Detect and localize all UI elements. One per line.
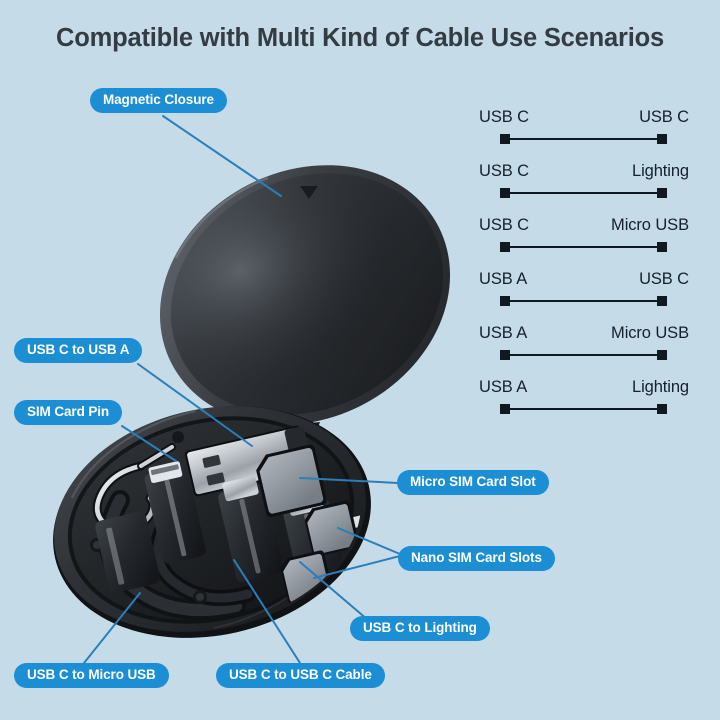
cable-connector-graphic — [500, 133, 667, 145]
cable-line — [505, 408, 662, 410]
cable-connector-graphic — [500, 349, 667, 361]
callout-sim-card-pin[interactable]: SIM Card Pin — [14, 400, 122, 425]
cable-line — [505, 246, 662, 248]
connector-plug-right-icon — [657, 242, 667, 252]
cable-left-label: USB C — [479, 162, 529, 181]
cable-right-label: USB C — [639, 108, 689, 127]
callout-usb-c-to-lighting[interactable]: USB C to Lighting — [350, 616, 490, 641]
connector-plug-right-icon — [657, 134, 667, 144]
cable-left-label: USB C — [479, 216, 529, 235]
cable-spec-row: USB C USB C — [479, 108, 689, 162]
cable-line — [505, 138, 662, 140]
connector-plug-right-icon — [657, 404, 667, 414]
callout-magnetic-closure[interactable]: Magnetic Closure — [90, 88, 227, 113]
cable-spec-row: USB A Lighting — [479, 378, 689, 432]
cable-line — [505, 354, 662, 356]
cable-right-label: Micro USB — [611, 324, 689, 343]
cable-connector-graphic — [500, 241, 667, 253]
cable-right-label: Lighting — [632, 378, 689, 397]
connector-plug-right-icon — [657, 188, 667, 198]
infographic-canvas: Compatible with Multi Kind of Cable Use … — [0, 0, 720, 720]
cable-line — [505, 300, 662, 302]
connector-plug-right-icon — [657, 350, 667, 360]
callout-micro-sim-card-slot[interactable]: Micro SIM Card Slot — [397, 470, 549, 495]
cable-compatibility-list: USB C USB C USB C Lighting USB C — [479, 108, 689, 432]
callout-nano-sim-card-slots[interactable]: Nano SIM Card Slots — [398, 546, 555, 571]
cable-right-label: USB C — [639, 270, 689, 289]
cable-spec-row: USB C Lighting — [479, 162, 689, 216]
callout-usb-c-to-micro-usb[interactable]: USB C to Micro USB — [14, 663, 169, 688]
callout-usb-c-to-usb-c-cable[interactable]: USB C to USB C Cable — [216, 663, 385, 688]
cable-right-label: Micro USB — [611, 216, 689, 235]
cable-connector-graphic — [500, 187, 667, 199]
cable-left-label: USB A — [479, 324, 527, 343]
connector-plug-right-icon — [657, 296, 667, 306]
cable-connector-graphic — [500, 295, 667, 307]
cable-connector-graphic — [500, 403, 667, 415]
cable-spec-row: USB A Micro USB — [479, 324, 689, 378]
cable-left-label: USB A — [479, 378, 527, 397]
cable-right-label: Lighting — [632, 162, 689, 181]
cable-left-label: USB C — [479, 108, 529, 127]
cable-spec-row: USB A USB C — [479, 270, 689, 324]
cable-line — [505, 192, 662, 194]
cable-left-label: USB A — [479, 270, 527, 289]
callout-usb-c-to-usb-a[interactable]: USB C to USB A — [14, 338, 142, 363]
cable-spec-row: USB C Micro USB — [479, 216, 689, 270]
